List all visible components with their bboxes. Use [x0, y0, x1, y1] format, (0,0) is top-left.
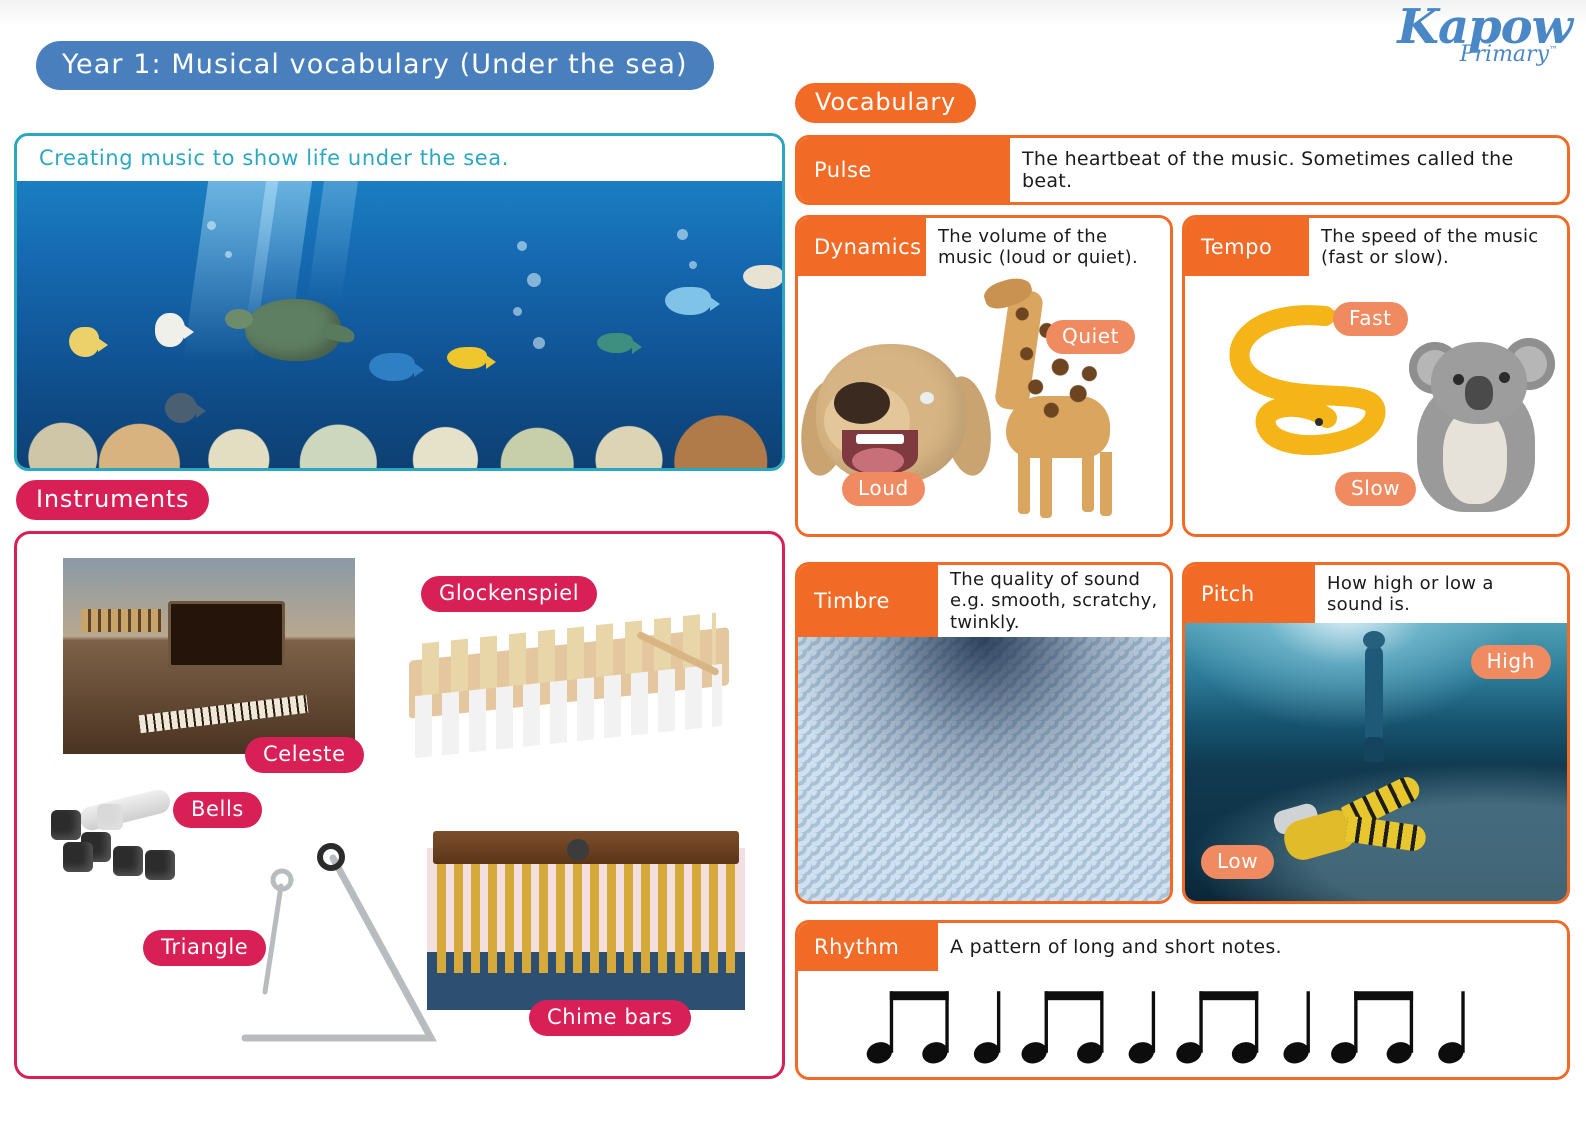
sea-turtle [245, 299, 341, 361]
top-gradient-wash [0, 0, 1586, 26]
vocabulary-section-label: Vocabulary [795, 83, 976, 123]
fish-blue-tang [369, 353, 415, 381]
vocab-term-dynamics: Dynamics [798, 218, 926, 276]
chime-bars-photo [427, 802, 745, 1010]
tempo-badge-slow: Slow [1335, 472, 1416, 506]
rhythm-notation [798, 971, 1567, 1077]
vocab-term-rhythm: Rhythm [798, 923, 938, 971]
fish-yellow [447, 347, 487, 369]
instrument-label-bells: Bells [173, 792, 262, 828]
dynamics-badge-quiet: Quiet [1046, 320, 1135, 354]
vocab-entry-tempo: Tempo The speed of the music (fast or sl… [1182, 215, 1570, 537]
instruments-section-label: Instruments [16, 480, 209, 520]
giraffe-image [966, 284, 1126, 516]
tempo-illustration: Fast Slow [1185, 276, 1567, 534]
fish-pale [743, 265, 782, 289]
vocab-term-pitch: Pitch [1185, 565, 1315, 623]
pitch-badge-high: High [1471, 645, 1551, 679]
tempo-badge-fast: Fast [1333, 302, 1408, 336]
rhythm-notes-svg [798, 971, 1567, 1077]
scuba-diver-image [1185, 762, 1567, 901]
dynamics-illustration: Quiet Loud [798, 276, 1170, 534]
lesson-focus-panel: Creating music to show life under the se… [14, 133, 785, 471]
fish-green [597, 333, 633, 353]
vocab-definition-rhythm: A pattern of long and short notes. [938, 923, 1567, 971]
instruments-panel: Celeste Glockenspiel Bells [14, 531, 785, 1079]
fish-butterfly [69, 327, 99, 357]
vocab-term-tempo: Tempo [1185, 218, 1309, 276]
vocab-definition-dynamics: The volume of the music (loud or quiet). [926, 218, 1170, 276]
koala-image [1395, 324, 1561, 530]
fish-angelfish [165, 393, 197, 423]
glockenspiel-photo [409, 618, 729, 758]
pitch-illustration: High Low [1185, 623, 1567, 901]
vocab-entry-rhythm: Rhythm A pattern of long and short notes… [795, 920, 1570, 1080]
vocab-entry-pulse: Pulse The heartbeat of the music. Someti… [795, 135, 1570, 205]
vocab-term-pulse: Pulse [798, 138, 1010, 202]
celeste-photo [63, 558, 355, 754]
vocab-definition-tempo: The speed of the music (fast or slow). [1309, 218, 1567, 276]
instrument-label-celeste: Celeste [245, 737, 364, 773]
instrument-label-glockenspiel: Glockenspiel [421, 576, 597, 612]
vocab-definition-pulse: The heartbeat of the music. Sometimes ca… [1010, 138, 1567, 202]
dynamics-badge-loud: Loud [842, 472, 925, 506]
fish-scales-image [798, 637, 1170, 901]
vocab-term-timbre: Timbre [798, 565, 938, 637]
worksheet-page: Kapow Primary™ Year 1: Musical vocabular… [0, 0, 1586, 1128]
freediver-image [1185, 623, 1567, 762]
trademark-symbol: ™ [1549, 46, 1558, 56]
timbre-illustration [798, 637, 1170, 901]
instrument-label-triangle: Triangle [143, 930, 266, 966]
vocab-definition-pitch: How high or low a sound is. [1315, 565, 1567, 623]
coral-reef-image [17, 181, 782, 469]
page-title: Year 1: Musical vocabulary (Under the se… [36, 41, 714, 90]
vocab-definition-timbre: The quality of sound e.g. smooth, scratc… [938, 565, 1170, 637]
lesson-subtitle: Creating music to show life under the se… [17, 136, 782, 181]
vocab-entry-timbre: Timbre The quality of sound e.g. smooth,… [795, 562, 1173, 904]
pitch-badge-low: Low [1201, 845, 1274, 879]
fish-powder-blue [665, 287, 711, 315]
vocab-entry-dynamics: Dynamics The volume of the music (loud o… [795, 215, 1173, 537]
kapow-primary-logo: Kapow Primary™ [1382, 4, 1572, 76]
instrument-label-chime-bars: Chime bars [529, 1000, 691, 1036]
fish-bannerfish [155, 313, 185, 347]
vocab-entry-pitch: Pitch How high or low a sound is. High L… [1182, 562, 1570, 904]
